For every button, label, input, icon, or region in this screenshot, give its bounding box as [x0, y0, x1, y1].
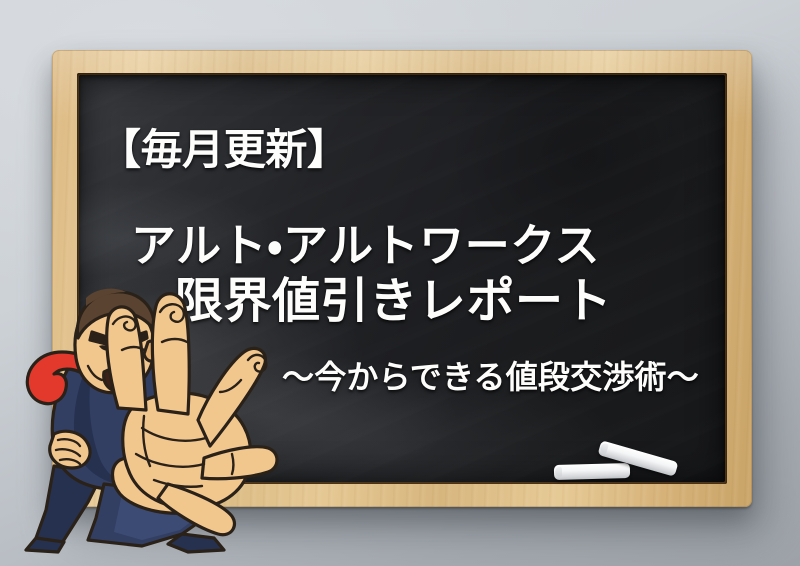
blackboard-banner: 【毎月更新】 アルト・アルトワークス 限界値引きレポート 〜今からできる値段交渉…	[0, 0, 800, 566]
mascot-businessman-illustration: .ol { stroke:#2a2118; stroke-width:3.2; …	[0, 288, 302, 566]
chalk-stick-left	[554, 463, 630, 480]
